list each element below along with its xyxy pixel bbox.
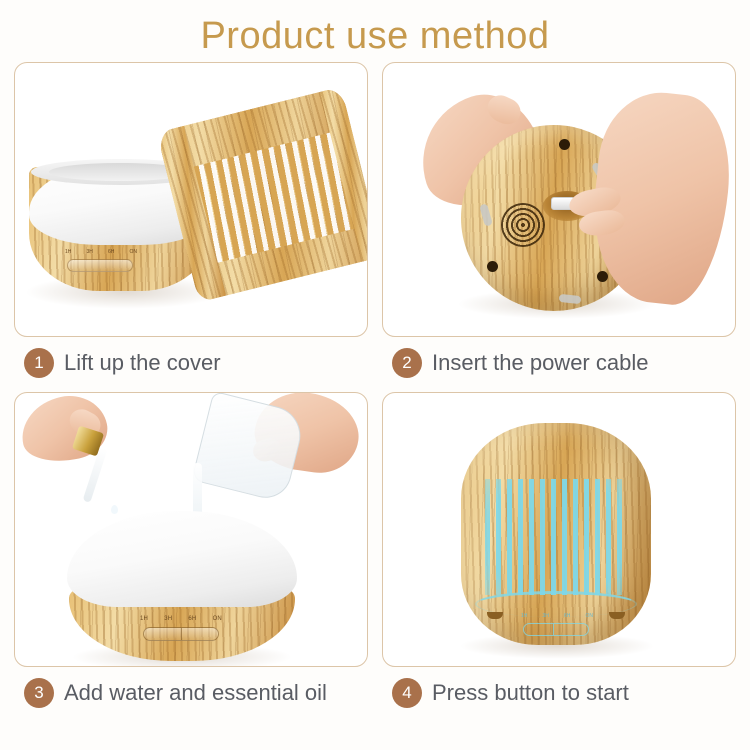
diffuser-open-illustration: 1H 3H 6H ON <box>15 63 367 336</box>
label-1h: 1H <box>140 616 148 622</box>
label-on: ON <box>130 249 138 255</box>
label-3h: 3H <box>543 613 549 619</box>
label-on: ON <box>586 613 594 619</box>
step-card-4: 1H 3H 6H ON 4 Press button to start <box>382 392 750 722</box>
cyan-glow-slats <box>485 479 627 595</box>
step-4-caption: 4 Press button to start <box>382 667 750 719</box>
diffuser-glowing-illustration: 1H 3H 6H ON <box>383 393 735 666</box>
label-3h: 3H <box>87 249 93 255</box>
step-badge-1: 1 <box>24 348 54 378</box>
step-badge-2: 2 <box>392 348 422 378</box>
label-3h: 3H <box>164 616 172 622</box>
step-4-photo: 1H 3H 6H ON <box>382 392 736 667</box>
step-card-1: 1H 3H 6H ON 1 Lift up the cover <box>14 62 382 392</box>
label-6h: 6H <box>108 249 114 255</box>
oil-droplet <box>111 505 118 514</box>
step-label-1: Lift up the cover <box>64 350 221 376</box>
control-button-strip <box>67 259 133 272</box>
step-1-caption: 1 Lift up the cover <box>14 337 382 389</box>
step-badge-4: 4 <box>392 678 422 708</box>
label-6h: 6H <box>564 613 570 619</box>
assembled-diffuser-body: 1H 3H 6H ON <box>461 423 651 645</box>
control-button-strip-step3 <box>143 627 219 641</box>
rubber-foot-top <box>559 139 570 150</box>
label-1h: 1H <box>65 249 71 255</box>
label-6h: 6H <box>188 616 196 622</box>
power-cable-illustration <box>383 63 735 336</box>
step-3-caption: 3 Add water and essential oil <box>14 667 382 719</box>
step-card-3: 1H 3H 6H ON 3 Add water and essential oi… <box>14 392 382 722</box>
steps-grid: 1H 3H 6H ON 1 Lift up the cover <box>0 62 750 722</box>
control-labels-step4: 1H 3H 6H ON <box>521 613 593 619</box>
air-vent-grille-icon <box>501 203 545 247</box>
label-1h: 1H <box>521 613 527 619</box>
step-label-3: Add water and essential oil <box>64 680 327 706</box>
rubber-foot-bottom-right <box>597 271 608 282</box>
step-card-2: 2 Insert the power cable <box>382 62 750 392</box>
fill-water-oil-illustration: 1H 3H 6H ON <box>15 393 367 666</box>
step-3-photo: 1H 3H 6H ON <box>14 392 368 667</box>
power-button-strip[interactable] <box>523 623 589 636</box>
step-2-caption: 2 Insert the power cable <box>382 337 750 389</box>
step-badge-3: 3 <box>24 678 54 708</box>
foot-right <box>609 612 625 619</box>
rubber-foot-bottom-left <box>487 261 498 272</box>
label-on: ON <box>213 616 222 622</box>
step-label-4: Press button to start <box>432 680 629 706</box>
step-label-2: Insert the power cable <box>432 350 648 376</box>
control-labels-step1: 1H 3H 6H ON <box>65 249 137 255</box>
page-title: Product use method <box>0 0 750 62</box>
foot-left <box>487 612 503 619</box>
step-1-photo: 1H 3H 6H ON <box>14 62 368 337</box>
control-labels-step3: 1H 3H 6H ON <box>140 616 222 622</box>
step-2-photo <box>382 62 736 337</box>
control-divider <box>553 624 554 635</box>
control-divider <box>181 628 182 640</box>
diffuser-white-bowl-step3 <box>67 511 297 607</box>
